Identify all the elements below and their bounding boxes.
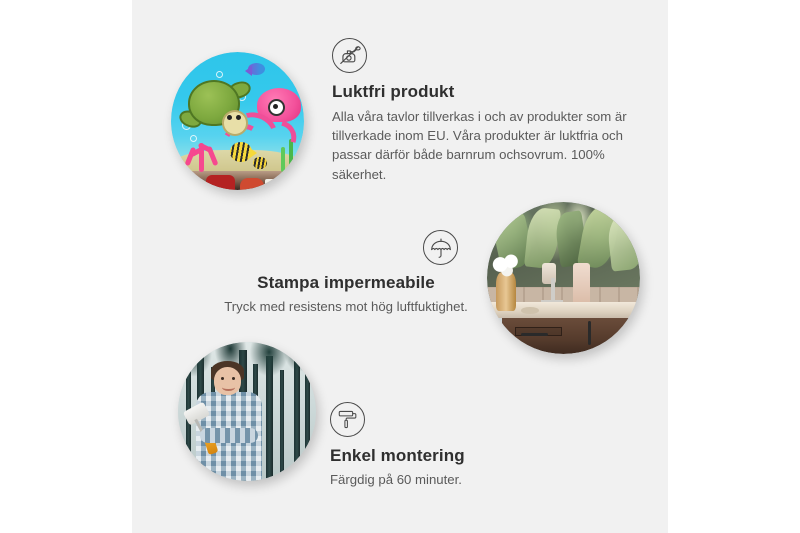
tree-canopy	[178, 342, 316, 398]
feature-description: Färgdig på 60 minuter.	[330, 470, 580, 489]
feature-odourless: Luktfri produkt Alla våra tavlor tillver…	[332, 38, 632, 184]
shipwreck-part	[240, 178, 264, 190]
drawer-handle	[521, 333, 549, 336]
cabinet-handle	[588, 321, 591, 345]
pink-coral	[182, 135, 222, 172]
feature-waterproof: Stampa impermeabile Tryck med resistens …	[210, 230, 482, 316]
faucet	[551, 278, 555, 302]
eye	[232, 377, 235, 380]
umbrella-icon	[423, 230, 458, 265]
aquarium-floor	[171, 171, 304, 190]
crossed-arms	[200, 428, 258, 443]
feature-description: Alla våra tavlor tillverkas i och av pro…	[332, 107, 632, 184]
yellow-fish	[253, 157, 266, 169]
shipwreck-part	[206, 175, 235, 190]
circular-image-painter	[178, 342, 316, 481]
icon-wrapper	[210, 230, 482, 273]
feature-title: Stampa impermeabile	[210, 273, 482, 293]
eye	[221, 377, 224, 380]
feature-description: Tryck med resistens mot hög luftfuktighe…	[210, 297, 482, 316]
feature-title: Enkel montering	[330, 446, 580, 466]
smile	[222, 384, 234, 392]
no-odour-spray-bottle-icon	[332, 38, 367, 73]
paint-roller-icon	[330, 402, 365, 437]
circular-image-aquarium	[171, 52, 304, 190]
circular-image-bathroom	[487, 202, 640, 354]
white-flowers	[490, 251, 524, 278]
feature-title: Luktfri produkt	[332, 82, 632, 102]
turtle-head	[222, 110, 249, 136]
promo-graphic: Luktfri produkt Alla våra tavlor tillver…	[0, 0, 800, 533]
feature-easy-mounting: Enkel montering Färgdig på 60 minuter.	[330, 402, 580, 489]
shipwreck-part	[265, 179, 274, 189]
